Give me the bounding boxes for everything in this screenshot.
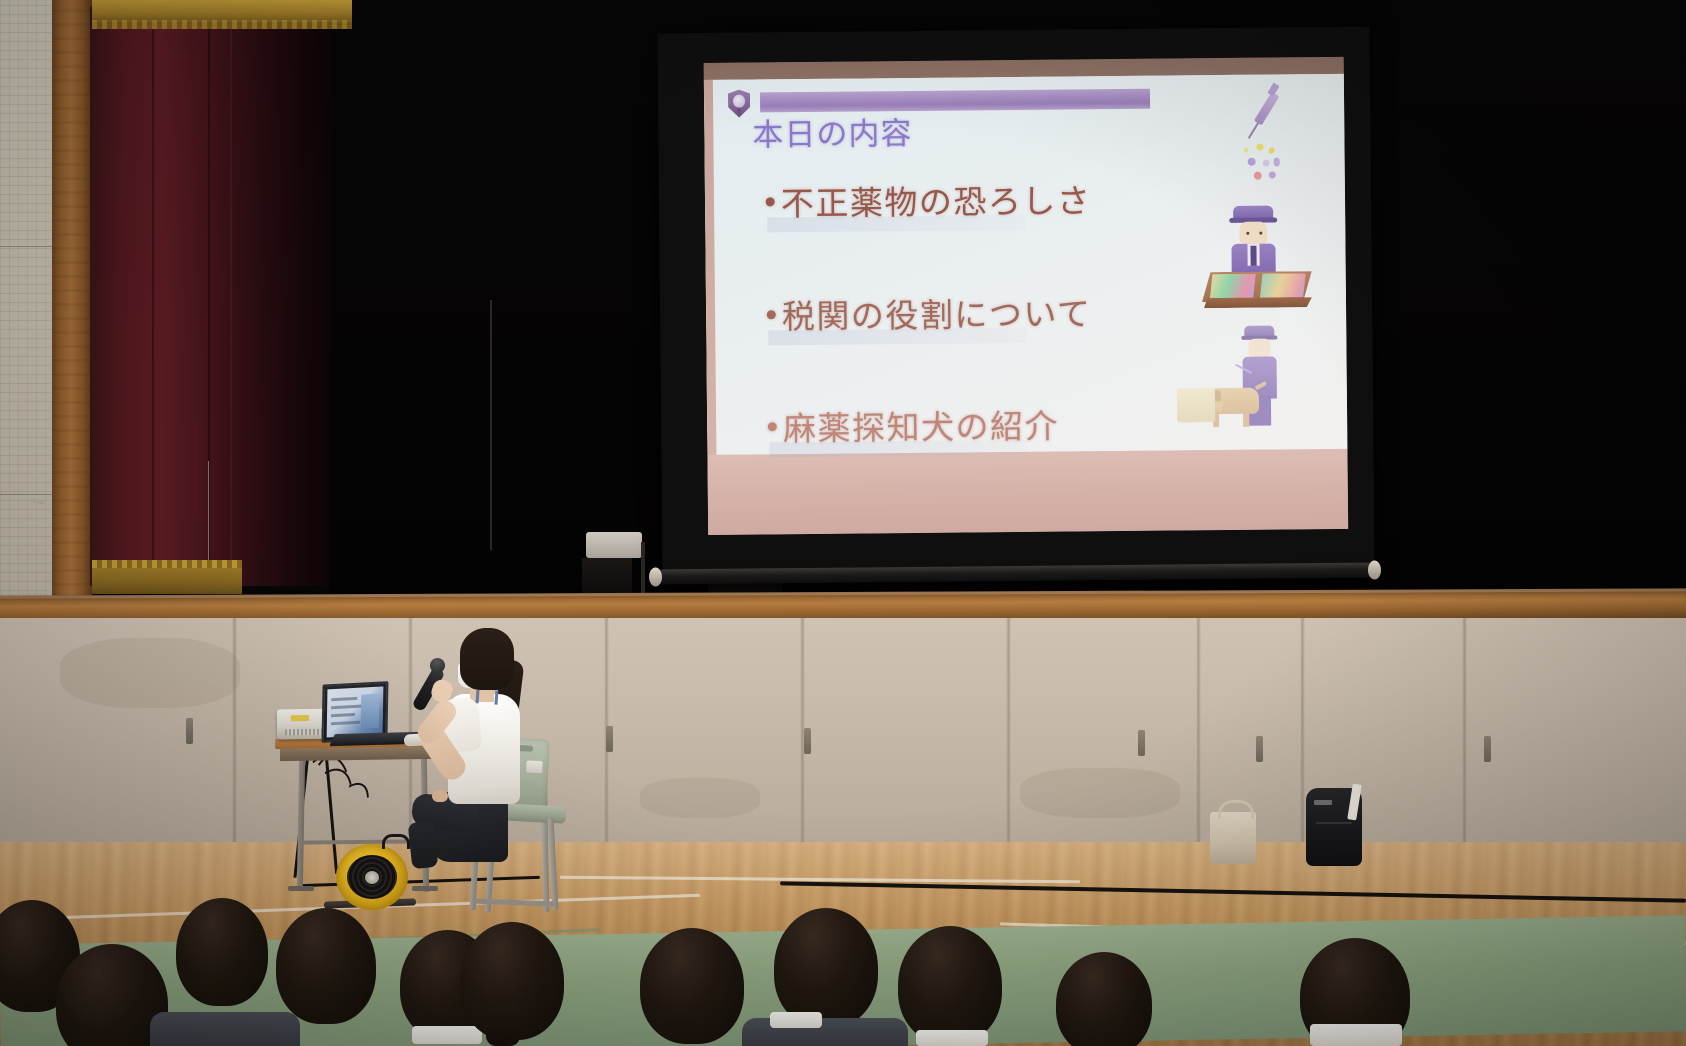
perforated-acoustic-wall [0,0,52,600]
panel-handle[interactable] [1138,730,1145,756]
gold-fringe-valance-lower [92,560,242,594]
laptop-screen-content [327,686,384,737]
reel-hub [365,871,379,884]
audience-collar [1310,1024,1402,1046]
tote-handle [1218,800,1254,819]
bullet-marker-icon: • [763,410,783,446]
presenter-hair [460,628,514,690]
slide-bullet-1-text: 不正薬物の恐ろしさ [781,181,1092,223]
movable-partition-wall [0,618,1686,858]
panel-handle[interactable] [606,726,613,752]
audience-shoulders [742,1018,908,1046]
panel-handle[interactable] [186,718,193,744]
wall-stain [60,638,240,708]
audience-head [640,928,744,1044]
projector-label [291,715,309,721]
panel-joint [1462,618,1467,858]
roller-end-cap [1368,560,1381,579]
audience-head [898,926,1002,1044]
bullet-marker-icon: • [761,185,781,221]
wall-stain [640,778,760,818]
yellow-cable-reel [330,838,412,910]
backpack-seam [1316,822,1352,824]
backpack-strap [1347,784,1362,821]
panel-joint [1006,618,1011,858]
curtain-fold [230,6,232,586]
gold-fringe-valance [92,0,352,22]
black-backpack [1306,788,1362,866]
audience-head [276,908,376,1024]
assembly-photo-scene: 本日の内容 •不正薬物の恐ろしさ •税関の役割について •麻薬探知犬の紹介 [0,0,1686,1046]
slide-bullet-2-text: 税関の役割について [782,294,1092,336]
panel-handle[interactable] [1256,736,1263,762]
wall-seam [0,246,52,247]
audience-collar [916,1030,988,1046]
audience-head [176,898,268,1006]
chair-leg [548,818,559,910]
wooden-frame-post [52,0,92,600]
curtain-fold [152,6,154,586]
slide-title-accent-bar [760,89,1150,113]
slide-footer-band [707,449,1348,535]
bullet-marker-icon: • [762,298,782,334]
audience-head [774,908,878,1028]
slide-bullet-1: •不正薬物の恐ろしさ [761,184,1092,220]
panel-handle[interactable] [804,728,811,754]
panel-handle[interactable] [1484,736,1491,762]
customs-shield-badge-icon [728,90,750,118]
presenter-shin [408,821,439,869]
presentation-slide: 本日の内容 •不正薬物の恐ろしさ •税関の役割について •麻薬探知犬の紹介 [704,57,1349,535]
maroon-stage-curtain [90,6,330,586]
slide-bullet-2: •税関の役割について [762,297,1092,333]
speaker-stand-pole [641,542,645,600]
desk-foot [412,886,438,891]
presenter-resting-hand [432,790,448,802]
presenter-lanyard [476,689,499,705]
backpack-logo [1314,800,1332,805]
slide-title: 本日の内容 [752,119,912,152]
customs-officer-inspecting-suitcase-illustration [1201,205,1312,322]
beige-tote-bag [1210,812,1256,864]
wall-seam [0,494,52,495]
drug-detection-dog-and-handler-illustration [1198,325,1319,430]
stage-speaker-top [586,532,642,558]
audience-head [1056,952,1152,1046]
wall-stain [1020,768,1180,818]
panel-joint [1196,618,1201,858]
audience-ponytail [486,1000,520,1046]
wall-hook [30,498,44,504]
hanging-cable [490,300,492,550]
audience-collar [412,1026,482,1044]
presenter [404,624,544,864]
desk-foot [288,886,314,891]
slide-bullet-3: •麻薬探知犬の紹介 [763,410,1059,446]
audience-shoulders [150,1012,300,1046]
projection-screen: 本日の内容 •不正薬物の恐ろしさ •税関の役割について •麻薬探知犬の紹介 [657,27,1374,579]
roller-end-cap [649,567,662,586]
slide-bullet-3-text: 麻薬探知犬の紹介 [783,407,1059,449]
syringe-and-pills-illustration [1216,89,1307,200]
audience-collar [770,1012,822,1028]
panel-joint [1300,618,1305,858]
